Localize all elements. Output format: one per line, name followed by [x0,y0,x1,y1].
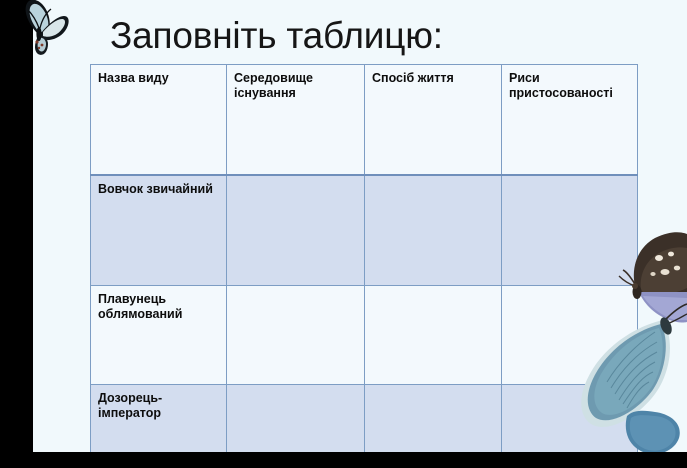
table-header-cell-adaptations: Риси пристосованості [502,65,638,176]
table-cell-lifestyle[interactable] [365,385,502,453]
table-cell-species: Плавунець облямований [91,286,227,385]
table-header-cell-habitat: Середовище існування [227,65,365,176]
table-cell-species: Вовчок звичайний [91,175,227,286]
slide: Заповніть таблицю: Назва виду Середовище… [0,0,687,468]
table-cell-adaptations[interactable] [502,385,638,453]
table-row: Плавунець облямований [91,286,638,385]
table-cell-adaptations[interactable] [502,286,638,385]
frame-band-left [0,0,33,468]
table-cell-habitat[interactable] [227,286,365,385]
table-header-cell-lifestyle: Спосіб життя [365,65,502,176]
table-container: Назва виду Середовище існування Спосіб ж… [90,64,637,452]
table-cell-lifestyle[interactable] [365,286,502,385]
table-header-cell-species: Назва виду [91,65,227,176]
frame-band-bottom [0,452,687,468]
table-cell-habitat[interactable] [227,385,365,453]
table-row: Вовчок звичайний [91,175,638,286]
table-cell-species: Дозорець-імператор [91,385,227,453]
table-cell-adaptations[interactable] [502,175,638,286]
table-cell-habitat[interactable] [227,175,365,286]
species-table: Назва виду Середовище існування Спосіб ж… [90,64,638,452]
table-header-row: Назва виду Середовище існування Спосіб ж… [91,65,638,176]
table-row: Дозорець-імператор [91,385,638,453]
table-cell-lifestyle[interactable] [365,175,502,286]
slide-canvas: Заповніть таблицю: Назва виду Середовище… [33,0,687,452]
page-title: Заповніть таблицю: [110,14,443,58]
